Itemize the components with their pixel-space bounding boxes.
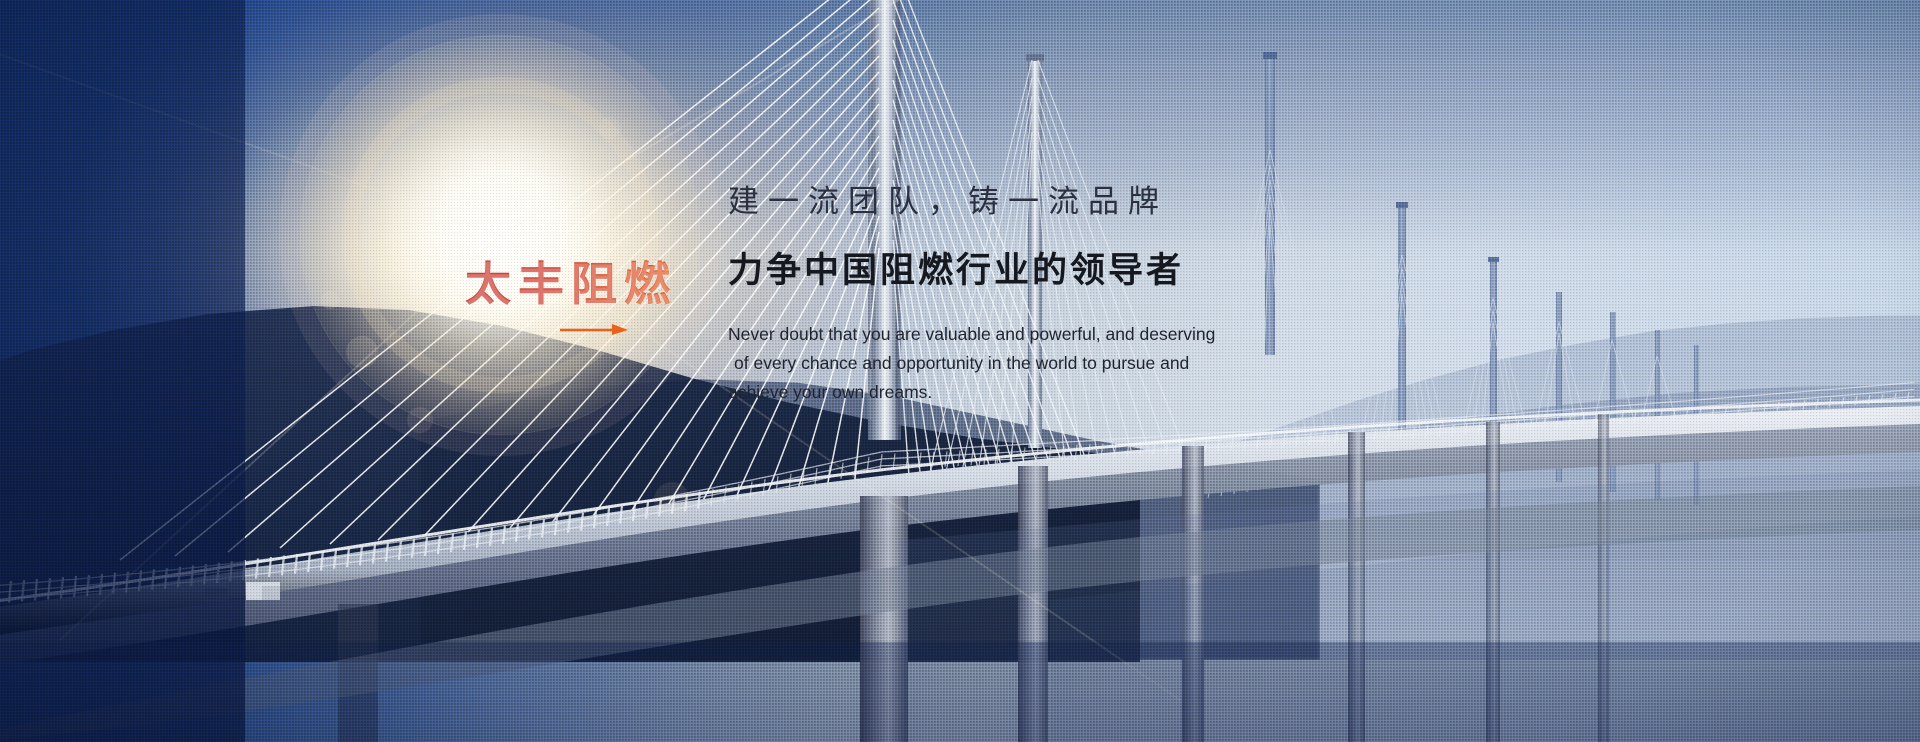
hero-description-line-1: Never doubt that you are valuable and po… [728, 320, 1368, 349]
hero-description-line-3: achieve your own dreams. [728, 378, 1368, 407]
left-overlay-panel [0, 0, 245, 742]
hero-description: Never doubt that you are valuable and po… [728, 320, 1368, 407]
hero-subtitle: 建一流团队，铸一流品牌 [728, 180, 1368, 224]
hero-copy: 建一流团队，铸一流品牌 力争中国阻燃行业的领导者 Never doubt tha… [728, 180, 1368, 407]
brand-logo-text: 太丰阻燃 [465, 258, 677, 310]
arrow-right-icon [560, 322, 630, 336]
hero-banner: 太丰阻燃 建一流团队，铸一流品牌 力争中国阻燃行业的领导者 Never doub… [0, 0, 1920, 742]
hero-description-line-2: of every chance and opportunity in the w… [728, 349, 1368, 378]
bottom-overlay-band [0, 642, 1920, 742]
hero-title: 力争中国阻燃行业的领导者 [728, 246, 1368, 296]
brand-logo[interactable]: 太丰阻燃 [465, 258, 677, 310]
